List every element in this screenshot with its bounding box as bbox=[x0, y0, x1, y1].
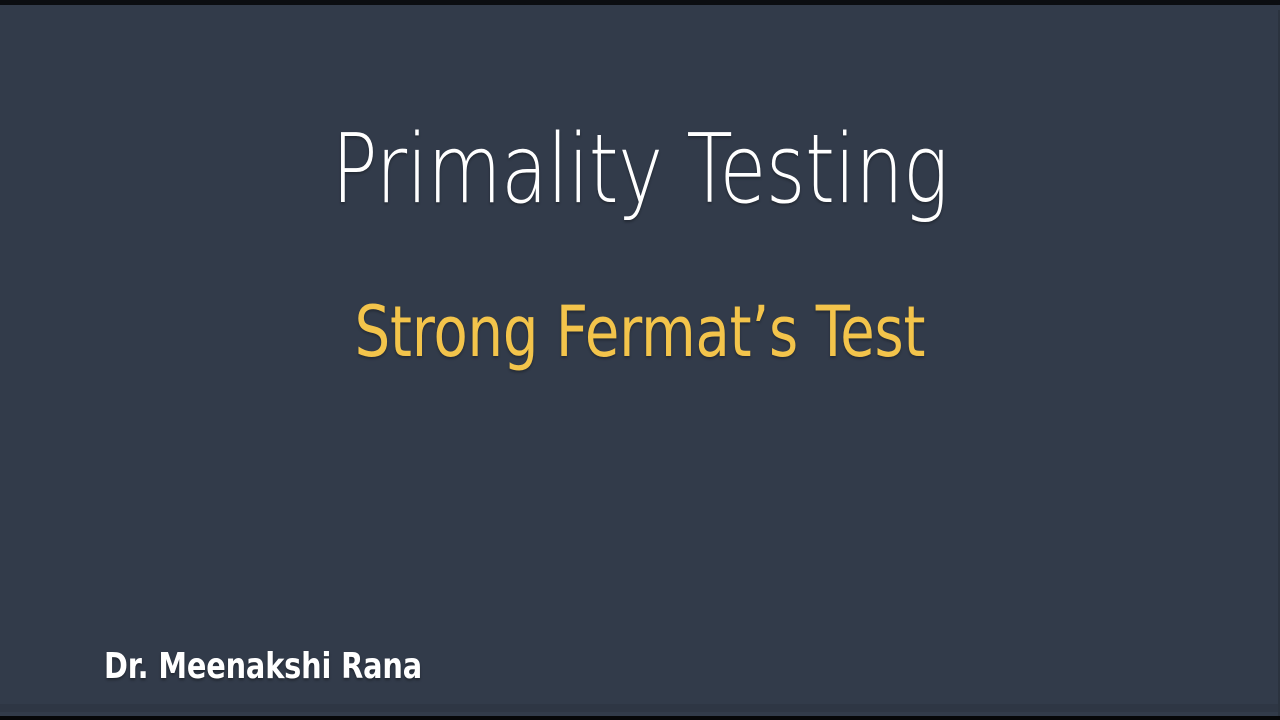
letterbox-bar-bottom bbox=[0, 716, 1280, 720]
slide-author-block: Dr. Meenakshi Rana bbox=[104, 649, 502, 685]
slide-bottom-band bbox=[0, 704, 1280, 712]
slide-subtitle-block: Strong Fermat’s Test bbox=[0, 297, 1280, 367]
author-name: Dr. Meenakshi Rana bbox=[104, 649, 422, 685]
presentation-slide: Primality Testing Strong Fermat’s Test D… bbox=[0, 0, 1280, 720]
slide-title-block: Primality Testing bbox=[0, 123, 1280, 218]
slide-subtitle: Strong Fermat’s Test bbox=[128, 297, 1152, 367]
slide-canvas: Primality Testing Strong Fermat’s Test D… bbox=[0, 5, 1280, 716]
slide-title: Primality Testing bbox=[128, 123, 1152, 218]
